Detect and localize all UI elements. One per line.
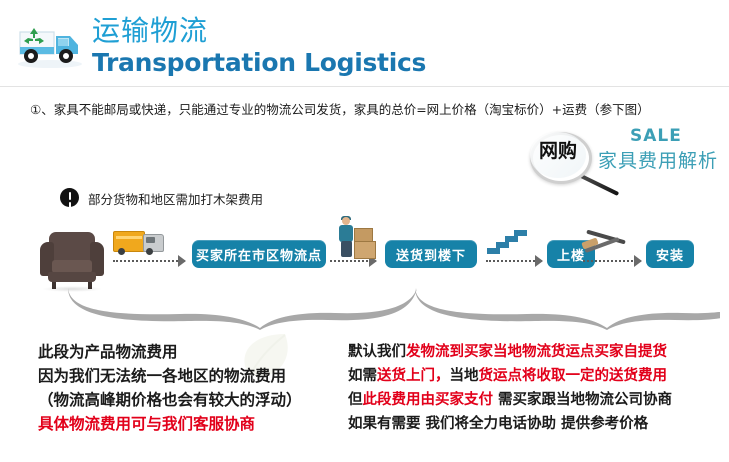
- package-lower: [354, 241, 376, 259]
- flow-step-deliver-downstairs[interactable]: 送货到楼下: [385, 240, 477, 268]
- page-root: 运输物流 Transportation Logistics ①、家具不能邮局或快…: [0, 0, 729, 462]
- right-line-2-seg-1: 如需: [348, 368, 377, 384]
- magnifier-icon: 网购: [530, 132, 602, 194]
- left-line-4: 具体物流费用可与我们客服协商: [38, 412, 338, 436]
- right-line-3-seg-1: 但: [348, 392, 363, 408]
- right-text-block: 默认我们发物流到买家当地物流货运点买家自提货 如需送货上门，当地货运点将收取一定…: [348, 340, 720, 436]
- header-title-cn: 运输物流: [92, 16, 426, 46]
- header-title-en: Transportation Logistics: [92, 48, 426, 78]
- person-head: [342, 217, 350, 225]
- right-line-4: 如果有需要 我们将全力电话协助 提供参考价格: [348, 412, 720, 436]
- left-line-3: （物流高峰期价格也会有较大的浮动）: [38, 388, 338, 412]
- right-line-2-seg-2: 送货上门，: [377, 368, 450, 384]
- delivery-person-icon: [336, 216, 376, 260]
- person-legs: [341, 241, 352, 257]
- armchair-arm-right: [90, 242, 104, 276]
- truck-wheel-front: [146, 248, 153, 255]
- truck-icon: [113, 229, 165, 257]
- right-line-1: 默认我们发物流到买家当地物流货运点买家自提货: [348, 340, 720, 364]
- right-line-3-seg-3: 需买家跟当地物流公司协商: [493, 392, 672, 408]
- truck-wheel-rear: [118, 248, 125, 255]
- sale-text: SALE: [630, 126, 682, 146]
- intro-text: ①、家具不能邮局或快递，只能通过专业的物流公司发货，家具的总价=网上价格（淘宝标…: [30, 99, 710, 118]
- bracket-left: [68, 288, 417, 330]
- decorative-bracket-shapes: [60, 282, 720, 330]
- exclamation-circle-icon: [60, 188, 79, 207]
- truck-window: [146, 237, 155, 243]
- page-header: 运输物流 Transportation Logistics: [0, 0, 729, 92]
- tools-icon: [582, 231, 632, 255]
- flow-step-install[interactable]: 安装: [646, 240, 694, 268]
- header-titles: 运输物流 Transportation Logistics: [92, 16, 426, 78]
- flow-arrow-1: [113, 255, 185, 267]
- recycle-truck-icon: [14, 14, 86, 70]
- right-line-2-seg-4: 货运点将收取一定的送货费用: [479, 368, 668, 384]
- left-line-1: 此段为产品物流费用: [38, 340, 338, 364]
- person-body: [339, 225, 353, 242]
- magnifier-label: 网购: [532, 141, 584, 161]
- right-line-1-seg-1: 默认我们: [348, 344, 406, 360]
- left-line-2: 因为我们无法统一各地区的物流费用: [38, 364, 338, 388]
- bracket-right: [415, 288, 720, 330]
- flow-step-logistics-point[interactable]: 买家所在市区物流点: [192, 240, 326, 268]
- armchair-seat: [48, 272, 96, 282]
- right-line-2-seg-3: 当地: [450, 368, 479, 384]
- flow-arrow-4: [583, 255, 641, 267]
- right-line-1-seg-2: 发物流到买家当地物流货运点买家自提货: [406, 344, 667, 360]
- right-line-3-seg-2: 此段费用由买家支付: [363, 392, 494, 408]
- sale-subtitle: 家具费用解析: [598, 146, 718, 173]
- header-divider: [0, 86, 729, 87]
- stairs-icon: [487, 230, 527, 256]
- flow-arrow-3: [486, 255, 542, 267]
- left-text-block: 此段为产品物流费用 因为我们无法统一各地区的物流费用 （物流高峰期价格也会有较大…: [38, 340, 338, 436]
- sale-badge: 网购 SALE 家具费用解析: [520, 126, 725, 194]
- right-line-2: 如需送货上门，当地货运点将收取一定的送货费用: [348, 364, 720, 388]
- warning-note-text: 部分货物和地区需加打木架费用: [88, 189, 263, 208]
- right-line-4-seg-1: 如果有需要 我们将全力电话协助 提供参考价格: [348, 416, 648, 432]
- right-line-3: 但此段费用由买家支付 需买家跟当地物流公司协商: [348, 388, 720, 412]
